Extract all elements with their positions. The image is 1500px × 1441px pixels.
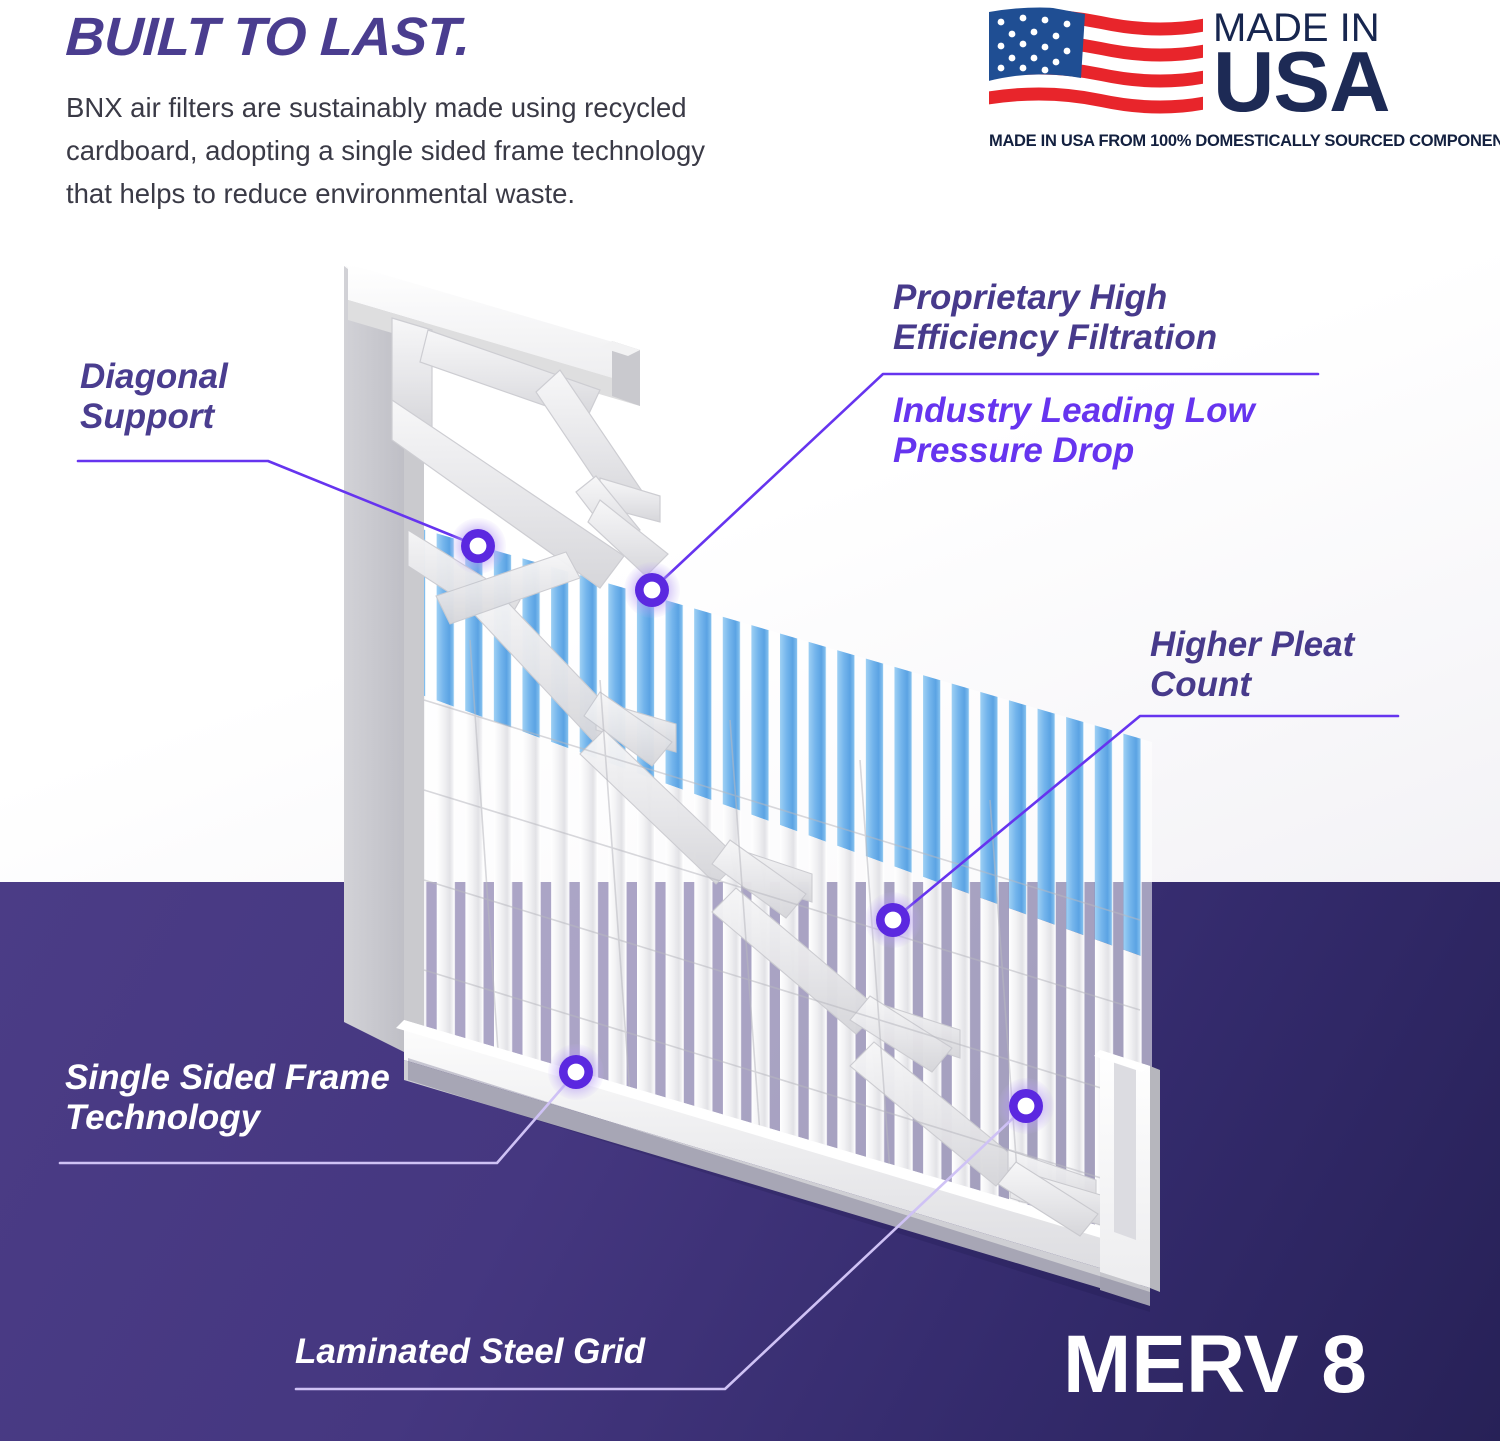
merv-rating-label: MERV 8: [1063, 1318, 1367, 1412]
callout-proprietary-filtration: Proprietary High Efficiency Filtration: [893, 278, 1217, 357]
callout-steel-line1: Laminated Steel Grid: [295, 1332, 645, 1372]
subcopy-line-2: cardboard, adopting a single sided frame…: [66, 129, 876, 172]
callout-laminated-steel-grid: Laminated Steel Grid: [295, 1332, 645, 1372]
made-in-usa-badge: MADE IN USA MADE IN USA FROM 100% DOMEST…: [985, 4, 1440, 154]
callout-industry-line2: Pressure Drop: [893, 431, 1255, 471]
subcopy-line-3: that helps to reduce environmental waste…: [66, 172, 876, 215]
frame-right-post: [1094, 1050, 1160, 1306]
marker-laminated-steel-grid[interactable]: [998, 1078, 1054, 1134]
callout-pleat-line1: Higher Pleat: [1150, 625, 1354, 665]
marker-diagonal-support[interactable]: [450, 518, 506, 574]
callout-diagonal-support: Diagonal Support: [80, 357, 228, 436]
page-subcopy: BNX air filters are sustainably made usi…: [66, 86, 876, 215]
badge-usa-label: USA: [1213, 40, 1389, 125]
air-filter-illustration: [0, 0, 1500, 1441]
subcopy-line-1: BNX air filters are sustainably made usi…: [66, 86, 876, 129]
callout-frame-line2: Technology: [65, 1098, 390, 1138]
infographic-canvas: BUILT TO LAST. BNX air filters are susta…: [0, 0, 1500, 1441]
marker-proprietary-filtration[interactable]: [624, 562, 680, 618]
callout-proprietary-line1: Proprietary High: [893, 278, 1217, 318]
callout-frame-line1: Single Sided Frame: [65, 1058, 390, 1098]
callout-proprietary-line2: Efficiency Filtration: [893, 318, 1217, 358]
marker-pleat-count[interactable]: [865, 892, 921, 948]
callout-diagonal-support-line2: Support: [80, 397, 228, 437]
page-headline: BUILT TO LAST.: [64, 6, 471, 68]
marker-single-sided-frame[interactable]: [548, 1044, 604, 1100]
callout-industry-line1: Industry Leading Low: [893, 391, 1255, 431]
callout-industry-pressure-drop: Industry Leading Low Pressure Drop: [893, 391, 1255, 470]
us-flag-icon: [985, 6, 1207, 128]
callout-pleat-line2: Count: [1150, 665, 1354, 705]
callout-single-sided-frame: Single Sided Frame Technology: [65, 1058, 390, 1137]
callout-higher-pleat-count: Higher Pleat Count: [1150, 625, 1354, 704]
badge-disclaimer: MADE IN USA FROM 100% DOMESTICALLY SOURC…: [989, 132, 1441, 151]
callout-diagonal-support-line1: Diagonal: [80, 357, 228, 397]
